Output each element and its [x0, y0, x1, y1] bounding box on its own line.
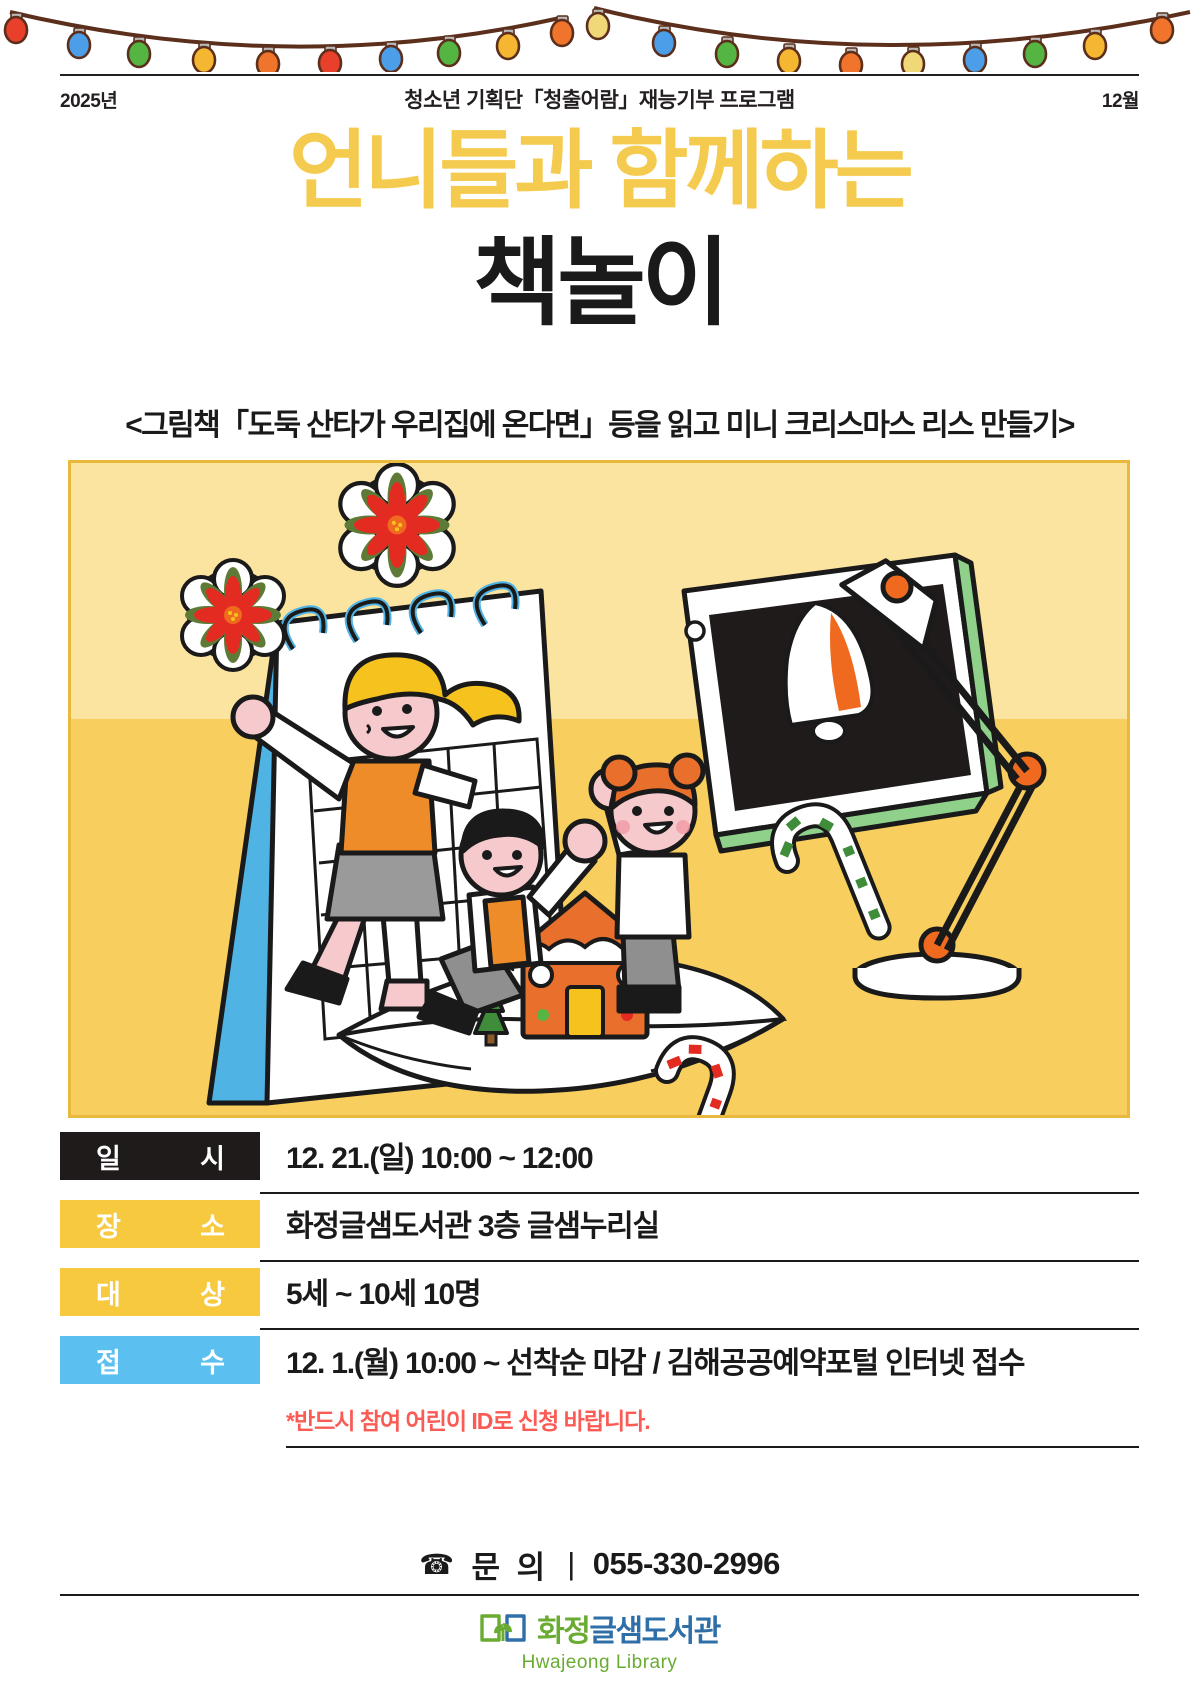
bulb-group-right [587, 9, 1173, 72]
telephone-icon: ☎ [419, 1548, 453, 1581]
registration-note: *반드시 참여 어린이 ID로 신청 바랍니다. [286, 1398, 1139, 1448]
info-badge-audience-char2: 상 [200, 1273, 224, 1312]
poster-root: 2025년 청소년 기획단「청출어람」재능기부 프로그램 12월 언니들과 함께… [0, 0, 1199, 1692]
contact-row: ☎ 문 의 | 055-330-2996 [60, 1534, 1139, 1596]
main-illustration [68, 460, 1130, 1118]
logo-text-english-value: Hwajeong Library [522, 1652, 678, 1673]
info-row-place: 장 소 화정글샘도서관 3층 글샘누리실 [60, 1194, 1139, 1262]
logo-text-korean: 화정글샘도서관 [537, 1606, 720, 1650]
contact-phone[interactable]: 055-330-2996 [593, 1546, 780, 1582]
info-row-audience: 대 상 5세 ~ 10세 10명 [60, 1262, 1139, 1330]
poinsettia-flower-upper [340, 464, 453, 586]
open-book-leaf-icon [479, 1610, 527, 1646]
contact-label: 문 의 [472, 1542, 550, 1587]
contact-separator: | [567, 1546, 575, 1582]
header-row: 2025년 청소년 기획단「청출어람」재능기부 프로그램 12월 [60, 82, 1139, 116]
illustration-svg [71, 463, 1127, 1115]
info-value-audience: 5세 ~ 10세 10명 [260, 1262, 1139, 1330]
info-table: 일 시 12. 21.(일) 10:00 ~ 12:00 장 소 화정글샘도서관… [60, 1126, 1139, 1448]
info-value-place: 화정글샘도서관 3층 글샘누리실 [260, 1194, 1139, 1262]
info-badge-datetime: 일 시 [60, 1132, 260, 1180]
logo-text-korean-part2: 글샘도서관 [589, 1615, 720, 1648]
header-program-name: 청소년 기획단「청출어람」재능기부 프로그램 [60, 84, 1139, 114]
info-value-datetime: 12. 21.(일) 10:00 ~ 12:00 [260, 1126, 1139, 1194]
logo-text-english: Hwajeong Library [522, 1652, 678, 1674]
title-line-2: 책놀이 [0, 236, 1199, 332]
info-row-registration: 접 수 12. 1.(월) 10:00 ~ 선착순 마감 / 김해공공예약포털 … [60, 1330, 1139, 1398]
info-value-registration: 12. 1.(월) 10:00 ~ 선착순 마감 / 김해공공예약포털 인터넷 … [260, 1330, 1139, 1398]
info-badge-datetime-char1: 일 [96, 1137, 120, 1176]
bulb-group-left [5, 13, 573, 72]
info-badge-datetime-char2: 시 [200, 1137, 224, 1176]
title-line-1: 언니들과 함께하는 [0, 128, 1199, 214]
subtitle: <그림책「도둑 산타가 우리집에 온다면」등을 읽고 미니 크리스마스 리스 만… [0, 400, 1199, 444]
logo-text-korean-part1: 화정 [537, 1615, 589, 1648]
info-badge-registration-char2: 수 [200, 1341, 224, 1380]
info-badge-audience-char1: 대 [96, 1273, 120, 1312]
info-badge-registration-char1: 접 [96, 1341, 120, 1380]
header-divider [60, 74, 1139, 76]
info-badge-registration: 접 수 [60, 1336, 260, 1384]
christmas-lights-garland [0, 0, 1199, 72]
info-badge-place-char1: 장 [96, 1205, 120, 1244]
logo-line-korean: 화정글샘도서관 [479, 1606, 720, 1650]
info-badge-audience: 대 상 [60, 1268, 260, 1316]
footer-logo: 화정글샘도서관 Hwajeong Library [0, 1606, 1199, 1674]
info-badge-place-char2: 소 [200, 1205, 224, 1244]
info-row-datetime: 일 시 12. 21.(일) 10:00 ~ 12:00 [60, 1126, 1139, 1194]
info-badge-place: 장 소 [60, 1200, 260, 1248]
poinsettia-flower-lower [182, 560, 284, 670]
